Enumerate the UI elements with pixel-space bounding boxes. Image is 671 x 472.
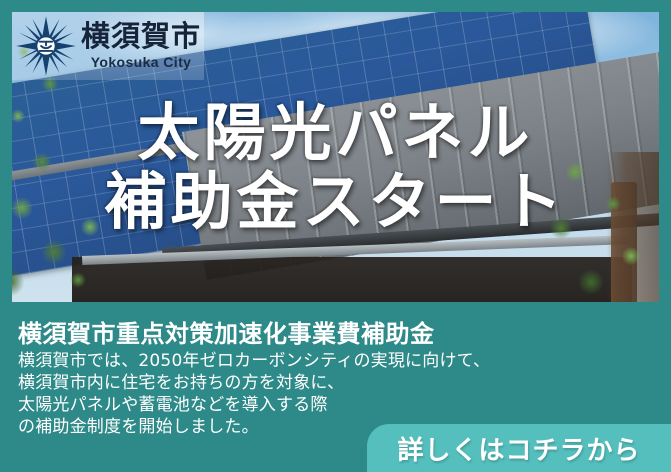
- city-logo-text: 横須賀市 Yokosuka City: [81, 22, 201, 71]
- description-line-3: 太陽光パネルや蓄電池などを導入する際: [18, 394, 490, 416]
- description-line-1: 横須賀市では、2050年ゼロカーボンシティの実現に向けて、: [18, 350, 490, 372]
- compass-star-emblem-icon: [15, 15, 77, 77]
- details-cta-button[interactable]: 詳しくはコチラから: [367, 424, 671, 472]
- city-name-en: Yokosuka City: [81, 55, 201, 69]
- city-logo: 横須賀市 Yokosuka City: [12, 12, 204, 80]
- solar-subsidy-banner: 太陽光パネル 補助金スタート: [0, 0, 671, 472]
- description-line-2: 横須賀市内に住宅をお持ちの方を対象に、: [18, 372, 490, 394]
- foliage-right: [535, 152, 659, 302]
- city-name-jp: 横須賀市: [81, 22, 201, 51]
- subsidy-title: 横須賀市重点対策加速化事業費補助金: [18, 314, 435, 349]
- details-cta-label: 詳しくはコチラから: [397, 430, 640, 467]
